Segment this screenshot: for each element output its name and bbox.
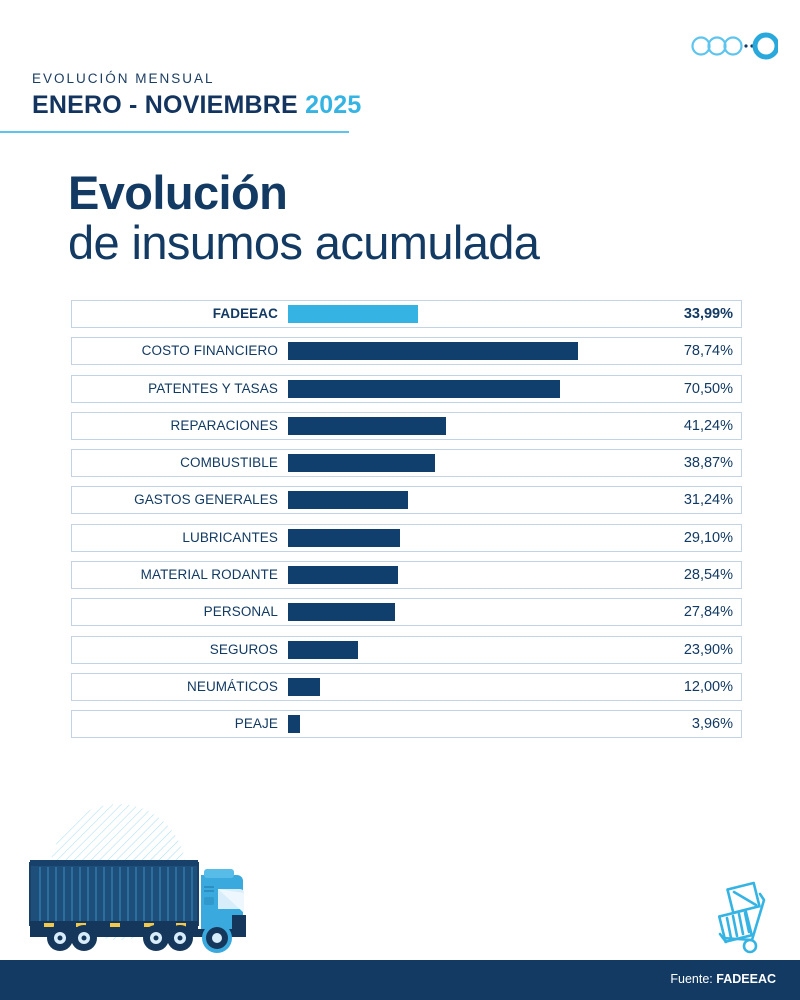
hand-truck-dolly-icon <box>698 880 778 958</box>
chart-row-value: 28,54% <box>684 562 733 588</box>
chart-row-value: 78,74% <box>684 338 733 364</box>
chart-row-bar <box>288 678 320 696</box>
header-period-year: 2025 <box>305 91 361 119</box>
source-label: Fuente: <box>670 972 712 986</box>
chart-row-bar <box>288 342 578 360</box>
chart-row-bar <box>288 305 418 323</box>
chart-row-value: 3,96% <box>692 711 733 737</box>
header-divider <box>0 131 349 133</box>
chart-row: SEGUROS23,90% <box>71 636 742 664</box>
chart-row-bar <box>288 603 395 621</box>
page-title: Evolución de insumos acumulada <box>68 168 539 268</box>
chart-row: NEUMÁTICOS12,00% <box>71 673 742 701</box>
chart-row-value: 27,84% <box>684 599 733 625</box>
chart-row-bar <box>288 641 358 659</box>
chart-row: REPARACIONES41,24% <box>71 412 742 440</box>
chart-row-bar <box>288 454 435 472</box>
source-value: FADEEAC <box>716 972 776 986</box>
chart-row: PEAJE3,96% <box>71 710 742 738</box>
chart-row-value: 41,24% <box>684 413 733 439</box>
chart-row-label: COMBUSTIBLE <box>72 450 278 476</box>
chart-row-value: 38,87% <box>684 450 733 476</box>
chart-row-label: REPARACIONES <box>72 413 278 439</box>
chart-row: FADEEAC33,99% <box>71 300 742 328</box>
chart-row-bar <box>288 715 300 733</box>
chart-row: PATENTES Y TASAS70,50% <box>71 375 742 403</box>
chart-row-value: 12,00% <box>684 674 733 700</box>
chart-row-bar <box>288 380 560 398</box>
chart-row-value: 70,50% <box>684 376 733 402</box>
container-truck-illustration <box>18 797 308 962</box>
chart-row: COMBUSTIBLE38,87% <box>71 449 742 477</box>
chart-row-bar <box>288 417 446 435</box>
chart-row: COSTO FINANCIERO78,74% <box>71 337 742 365</box>
chart-row-bar <box>288 566 398 584</box>
header-period-months: ENERO - NOVIEMBRE <box>32 91 298 119</box>
chart-row-value: 31,24% <box>684 487 733 513</box>
chart-row-bar <box>288 491 408 509</box>
chart-row-value: 29,10% <box>684 525 733 551</box>
insumos-bar-chart: FADEEAC33,99%COSTO FINANCIERO78,74%PATEN… <box>71 300 742 748</box>
chart-row-label: PATENTES Y TASAS <box>72 376 278 402</box>
chart-row-label: LUBRICANTES <box>72 525 278 551</box>
header-block: EVOLUCIÓN MENSUAL ENERO - NOVIEMBRE 2025 <box>32 72 362 118</box>
footer-bar: Fuente: FADEEAC <box>0 960 800 1000</box>
page-title-line1: Evolución <box>68 168 539 218</box>
chart-row-label: GASTOS GENERALES <box>72 487 278 513</box>
chart-row-label: COSTO FINANCIERO <box>72 338 278 364</box>
chart-row: LUBRICANTES29,10% <box>71 524 742 552</box>
chart-row-label: MATERIAL RODANTE <box>72 562 278 588</box>
chart-row: GASTOS GENERALES31,24% <box>71 486 742 514</box>
source-credit: Fuente: FADEEAC <box>670 972 776 986</box>
chart-row-label: FADEEAC <box>72 301 278 327</box>
header-kicker: EVOLUCIÓN MENSUAL <box>32 72 362 86</box>
chart-row-value: 23,90% <box>684 637 733 663</box>
chart-row-label: SEGUROS <box>72 637 278 663</box>
chart-row-label: PEAJE <box>72 711 278 737</box>
header-period: ENERO - NOVIEMBRE 2025 <box>32 93 362 118</box>
page-title-line2: de insumos acumulada <box>68 218 539 268</box>
chart-row-bar <box>288 529 400 547</box>
chart-row: MATERIAL RODANTE28,54% <box>71 561 742 589</box>
fadeeac-circles-logo <box>690 31 778 61</box>
chart-row-label: NEUMÁTICOS <box>72 674 278 700</box>
chart-row-value: 33,99% <box>684 301 733 327</box>
chart-row-label: PERSONAL <box>72 599 278 625</box>
chart-row: PERSONAL27,84% <box>71 598 742 626</box>
